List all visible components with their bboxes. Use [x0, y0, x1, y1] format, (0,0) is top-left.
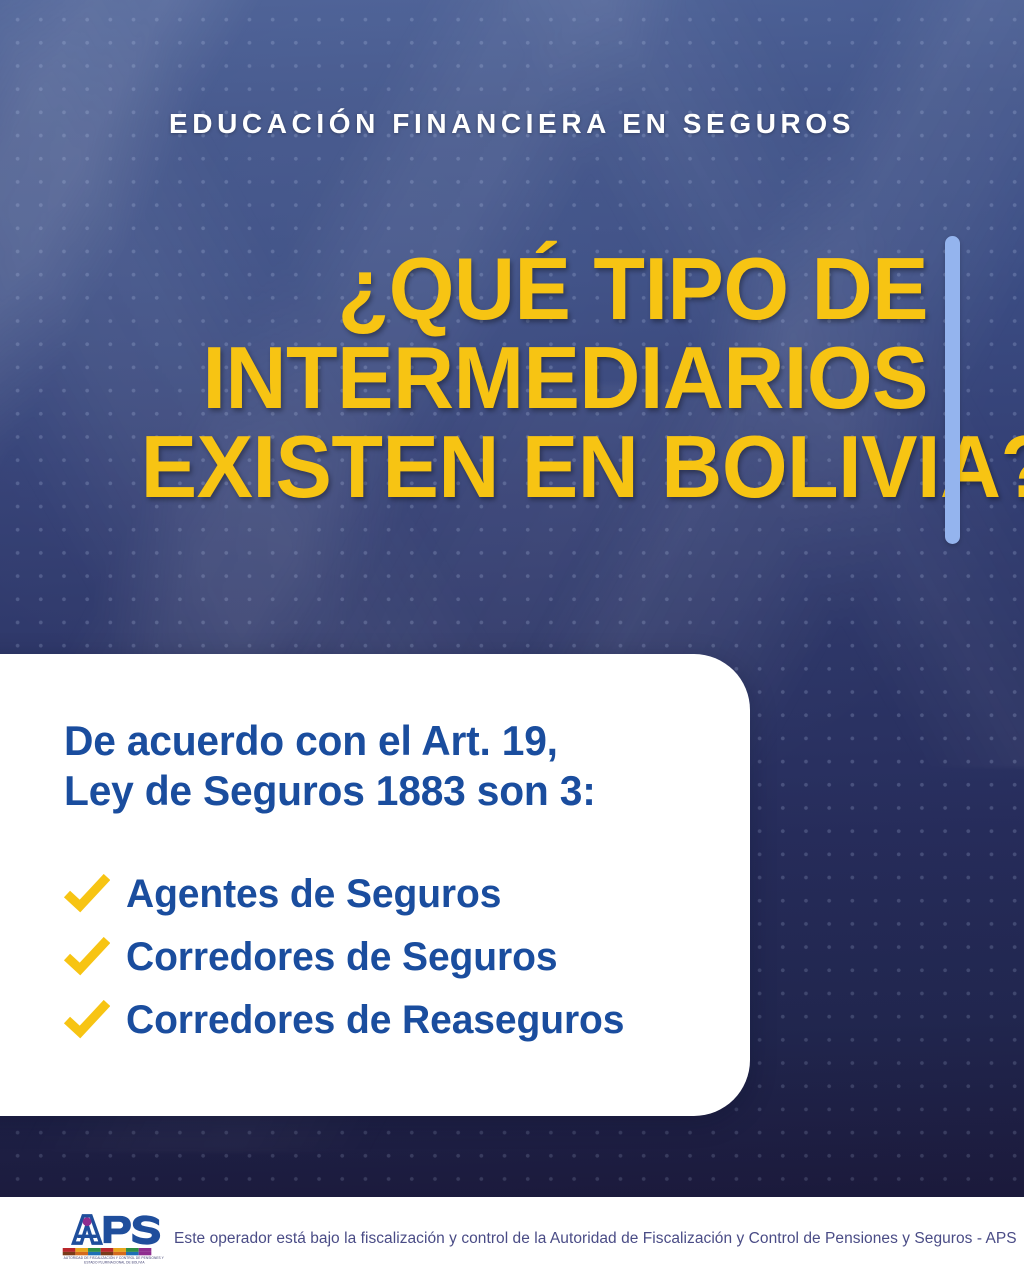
list-item: Agentes de Seguros — [64, 862, 704, 925]
list-item: Corredores de Reaseguros — [64, 988, 704, 1051]
aps-logo-subtitle-1: AUTORIDAD DE FISCALIZACIÓN Y CONTROL DE … — [64, 1255, 164, 1260]
footer-disclaimer: Este operador está bajo la fiscalización… — [174, 1230, 1017, 1248]
list-item: Corredores de Seguros — [64, 925, 704, 988]
card-heading-line-2: Ley de Seguros 1883 son 3: — [64, 766, 596, 816]
page-title-line-1: ¿QUÉ TIPO DE — [141, 244, 928, 333]
card-heading-line-1: De acuerdo con el Art. 19, — [64, 716, 596, 766]
list-item-label: Corredores de Reaseguros — [126, 999, 624, 1041]
check-icon — [64, 937, 110, 977]
content-card: De acuerdo con el Art. 19, Ley de Seguro… — [0, 654, 750, 1116]
page-title-line-3: EXISTEN EN BOLIVIA? — [141, 422, 928, 511]
aps-logo-subtitle-2: ESTADO PLURINACIONAL DE BOLIVIA — [84, 1261, 145, 1265]
aps-logo: AUTORIDAD DE FISCALIZACIÓN Y CONTROL DE … — [52, 1211, 164, 1266]
list-item-label: Corredores de Seguros — [126, 936, 557, 978]
intermediary-list: Agentes de Seguros Corredores de Seguros… — [64, 862, 704, 1051]
card-heading: De acuerdo con el Art. 19, Ley de Seguro… — [64, 716, 596, 816]
eyebrow-heading: EDUCACIÓN FINANCIERA EN SEGUROS — [0, 108, 1024, 140]
accent-bar — [945, 236, 960, 544]
poster-canvas: EDUCACIÓN FINANCIERA EN SEGUROS ¿QUÉ TIP… — [0, 0, 1024, 1280]
check-icon — [64, 1000, 110, 1040]
footer-bar: AUTORIDAD DE FISCALIZACIÓN Y CONTROL DE … — [0, 1197, 1024, 1280]
list-item-label: Agentes de Seguros — [126, 873, 501, 915]
check-icon — [64, 874, 110, 914]
page-title: ¿QUÉ TIPO DE INTERMEDIARIOS EXISTEN EN B… — [141, 244, 928, 511]
page-title-line-2: INTERMEDIARIOS — [141, 333, 928, 422]
